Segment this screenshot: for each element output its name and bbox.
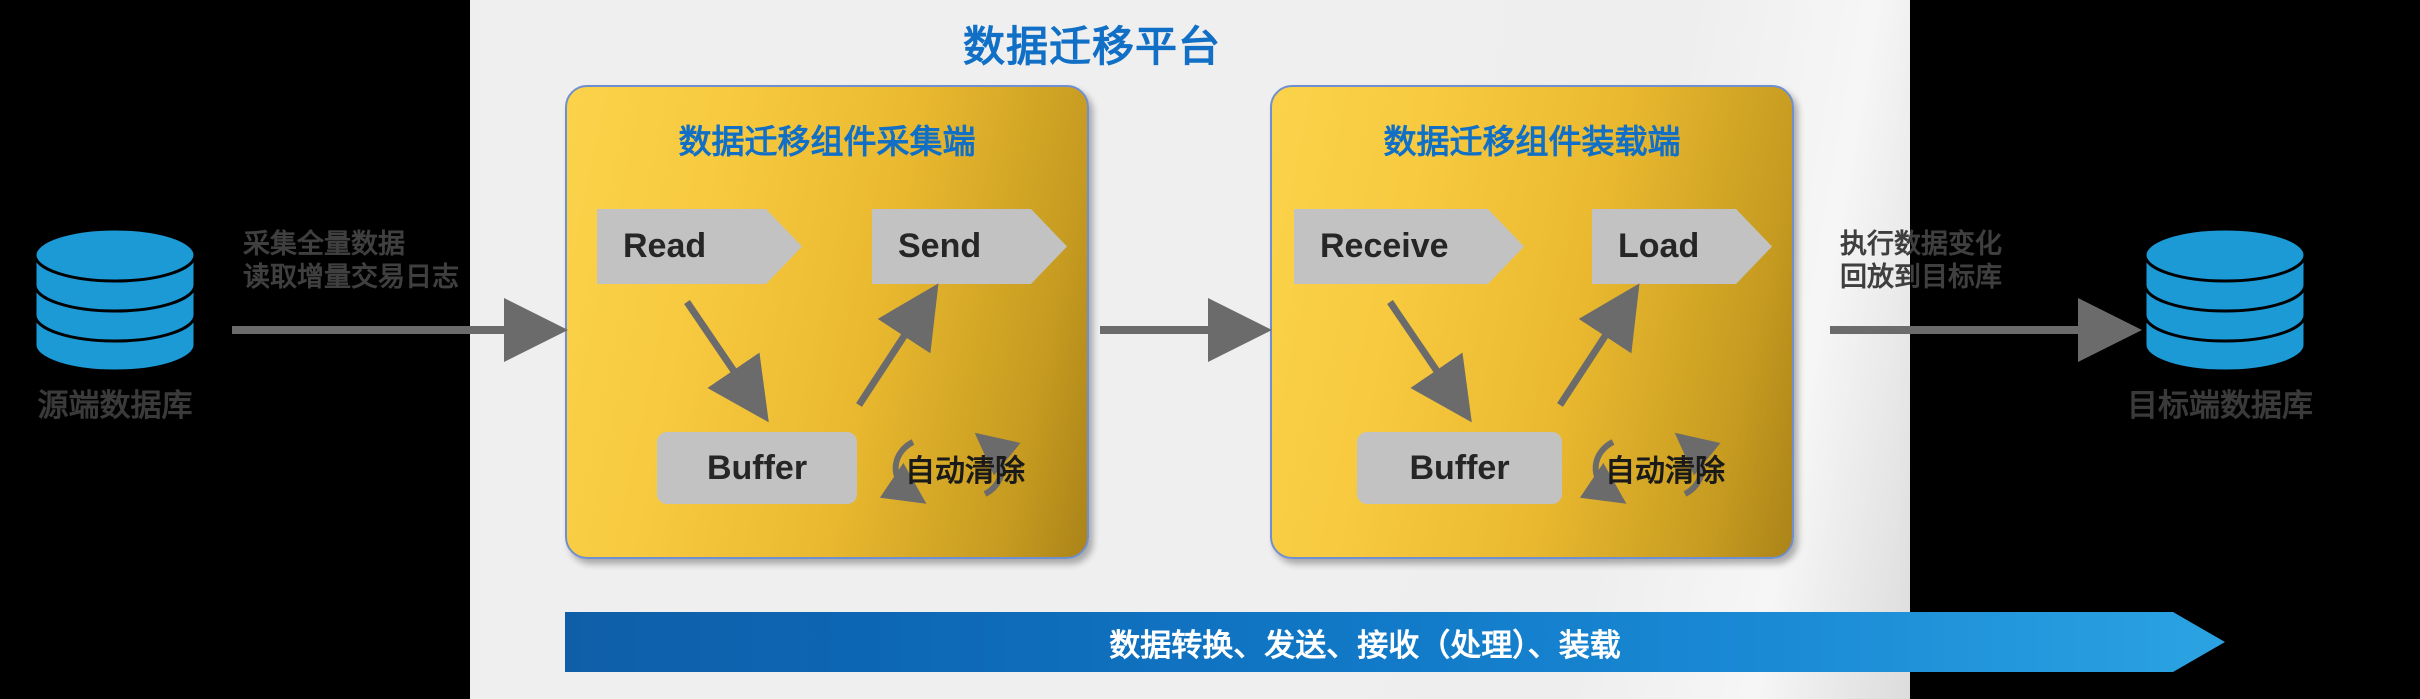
stage-read[interactable]: Read <box>597 209 802 284</box>
source-database-label: 源端数据库 <box>0 380 280 425</box>
stage-load[interactable]: Load <box>1592 209 1772 284</box>
banner-text: 数据转换、发送、接收（处理）、装载 <box>565 612 2165 672</box>
component-box-collector[interactable]: 数据迁移组件采集端 Read Send Buffer <box>565 85 1089 559</box>
buffer-box-loader[interactable]: Buffer <box>1357 432 1562 504</box>
apply-edge-label: 执行数据变化 回放到目标库 <box>1840 228 2002 294</box>
ingest-edge-label: 采集全量数据 读取增量交易日志 <box>243 228 459 294</box>
target-database-label: 目标端数据库 <box>2055 380 2385 425</box>
stage-read-label: Read <box>597 227 706 266</box>
apply-label-line2: 回放到目标库 <box>1840 261 2002 294</box>
buffer-label-collector: Buffer <box>707 449 807 488</box>
autoclean-loader: 自动清除 <box>1567 420 1767 516</box>
stage-load-label: Load <box>1592 227 1699 266</box>
component-title-loader: 数据迁移组件装载端 <box>1272 115 1792 163</box>
autoclean-collector: 自动清除 <box>867 420 1067 516</box>
stage-receive[interactable]: Receive <box>1294 209 1524 284</box>
component-title-collector: 数据迁移组件采集端 <box>567 115 1087 163</box>
buffer-label-loader: Buffer <box>1409 449 1509 488</box>
component-box-loader[interactable]: 数据迁移组件装载端 Receive Load Buffer <box>1270 85 1794 559</box>
autoclean-label-loader: 自动清除 <box>1605 446 1725 490</box>
ingest-label-line1: 采集全量数据 <box>243 228 459 261</box>
stage-send[interactable]: Send <box>872 209 1067 284</box>
diagram-canvas: 数据迁移平台 数据迁移组件采集端 Read Send Buffer <box>0 0 2420 699</box>
stage-receive-label: Receive <box>1294 227 1449 266</box>
page-title: 数据迁移平台 <box>963 13 1221 74</box>
autoclean-label-collector: 自动清除 <box>905 446 1025 490</box>
apply-label-line1: 执行数据变化 <box>1840 228 2002 261</box>
target-database-icon <box>2140 225 2310 375</box>
buffer-box-collector[interactable]: Buffer <box>657 432 857 504</box>
stage-send-label: Send <box>872 227 981 266</box>
source-database-icon <box>30 225 200 375</box>
ingest-label-line2: 读取增量交易日志 <box>243 261 459 294</box>
bottom-banner: 数据转换、发送、接收（处理）、装载 <box>565 612 2225 672</box>
